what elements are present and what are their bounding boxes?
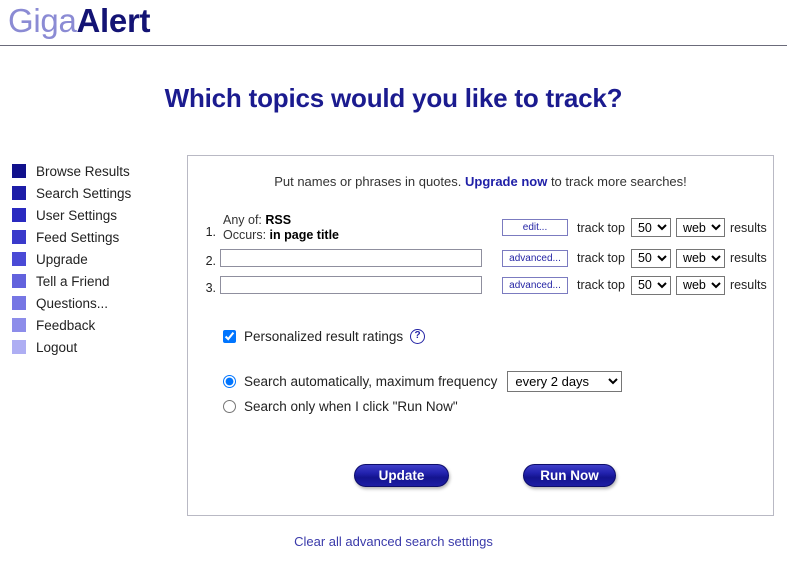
- personalized-ratings-option: Personalized result ratings ?: [223, 329, 425, 344]
- help-icon[interactable]: ?: [410, 329, 425, 344]
- footer: Clear all advanced search settings: [0, 534, 787, 549]
- result-type-select[interactable]: web: [676, 249, 725, 268]
- schedule-auto-label: Search automatically, maximum frequency: [244, 374, 497, 389]
- site-logo[interactable]: GigaAlert: [8, 2, 150, 40]
- topics-panel: Put names or phrases in quotes. Upgrade …: [187, 155, 774, 516]
- sidebar-item-feed-settings[interactable]: Feed Settings: [12, 226, 177, 248]
- sidebar-item-label: Logout: [36, 340, 77, 355]
- sidebar-item-upgrade[interactable]: Upgrade: [12, 248, 177, 270]
- panel-note-prefix: Put names or phrases in quotes.: [274, 174, 465, 189]
- sidebar-bullet-icon: [12, 296, 26, 310]
- sidebar-bullet-icon: [12, 252, 26, 266]
- query-input[interactable]: [220, 249, 482, 267]
- sidebar-item-feedback[interactable]: Feedback: [12, 314, 177, 336]
- schedule-manual-label: Search only when I click "Run Now": [244, 399, 458, 414]
- sidebar-item-label: Feed Settings: [36, 230, 119, 245]
- personalized-ratings-label: Personalized result ratings: [244, 329, 403, 344]
- result-type-select[interactable]: web: [676, 276, 725, 295]
- panel-note: Put names or phrases in quotes. Upgrade …: [188, 174, 773, 189]
- clear-advanced-settings-link[interactable]: Clear all advanced search settings: [294, 534, 493, 549]
- sidebar-item-logout[interactable]: Logout: [12, 336, 177, 358]
- page-title: Which topics would you like to track?: [0, 83, 787, 114]
- sidebar-bullet-icon: [12, 208, 26, 222]
- sidebar-nav: Browse Results Search Settings User Sett…: [12, 160, 177, 358]
- result-type-select[interactable]: web: [676, 218, 725, 237]
- results-label: results: [730, 278, 767, 292]
- sidebar-item-label: Upgrade: [36, 252, 88, 267]
- schedule-auto-radio[interactable]: [223, 375, 236, 388]
- any-of-value: RSS: [265, 213, 291, 227]
- edit-button[interactable]: edit...: [502, 219, 568, 236]
- sidebar-item-label: Search Settings: [36, 186, 131, 201]
- sidebar-bullet-icon: [12, 186, 26, 200]
- sidebar-item-label: Questions...: [36, 296, 108, 311]
- track-top-label: track top: [577, 278, 625, 292]
- row-summary: Any of: RSS Occurs: in page title: [220, 213, 482, 243]
- logo-alert: Alert: [77, 2, 151, 39]
- upgrade-now-link[interactable]: Upgrade now: [465, 174, 547, 189]
- advanced-button[interactable]: advanced...: [502, 250, 568, 267]
- track-top-label: track top: [577, 221, 625, 235]
- row-number: 1.: [199, 225, 220, 244]
- advanced-button[interactable]: advanced...: [502, 277, 568, 294]
- sidebar-bullet-icon: [12, 164, 26, 178]
- schedule-manual-option: Search only when I click "Run Now": [223, 399, 458, 414]
- sidebar-item-questions[interactable]: Questions...: [12, 292, 177, 314]
- result-count-select[interactable]: 50: [631, 249, 671, 268]
- query-rows: 1. Any of: RSS Occurs: in page title edi…: [199, 211, 765, 299]
- query-row: 2. advanced... track top 50 web results: [199, 245, 765, 271]
- result-count-select[interactable]: 50: [631, 276, 671, 295]
- update-button[interactable]: Update: [354, 464, 449, 487]
- sidebar-item-label: Tell a Friend: [36, 274, 110, 289]
- sidebar-item-label: Browse Results: [36, 164, 130, 179]
- query-input[interactable]: [220, 276, 482, 294]
- track-top-label: track top: [577, 251, 625, 265]
- result-count-select[interactable]: 50: [631, 218, 671, 237]
- sidebar-bullet-icon: [12, 274, 26, 288]
- logo-giga: Giga: [8, 2, 77, 39]
- results-label: results: [730, 221, 767, 235]
- schedule-manual-radio[interactable]: [223, 400, 236, 413]
- header-divider: [0, 45, 787, 46]
- run-now-button[interactable]: Run Now: [523, 464, 616, 487]
- sidebar-item-search-settings[interactable]: Search Settings: [12, 182, 177, 204]
- sidebar-item-user-settings[interactable]: User Settings: [12, 204, 177, 226]
- query-row: 3. advanced... track top 50 web results: [199, 272, 765, 298]
- sidebar-bullet-icon: [12, 230, 26, 244]
- schedule-auto-option: Search automatically, maximum frequency …: [223, 371, 622, 392]
- query-row: 1. Any of: RSS Occurs: in page title edi…: [199, 211, 765, 244]
- sidebar-item-label: Feedback: [36, 318, 95, 333]
- frequency-select[interactable]: every 2 days: [507, 371, 622, 392]
- any-of-label: Any of:: [223, 213, 262, 227]
- sidebar-item-label: User Settings: [36, 208, 117, 223]
- row-number: 2.: [199, 254, 220, 271]
- sidebar-bullet-icon: [12, 318, 26, 332]
- sidebar-bullet-icon: [12, 340, 26, 354]
- sidebar-item-tell-a-friend[interactable]: Tell a Friend: [12, 270, 177, 292]
- occurs-label: Occurs:: [223, 228, 266, 242]
- row-number: 3.: [199, 281, 220, 298]
- results-label: results: [730, 251, 767, 265]
- panel-note-suffix: to track more searches!: [547, 174, 686, 189]
- personalized-ratings-checkbox[interactable]: [223, 330, 236, 343]
- occurs-value: in page title: [270, 228, 339, 242]
- sidebar-item-browse-results[interactable]: Browse Results: [12, 160, 177, 182]
